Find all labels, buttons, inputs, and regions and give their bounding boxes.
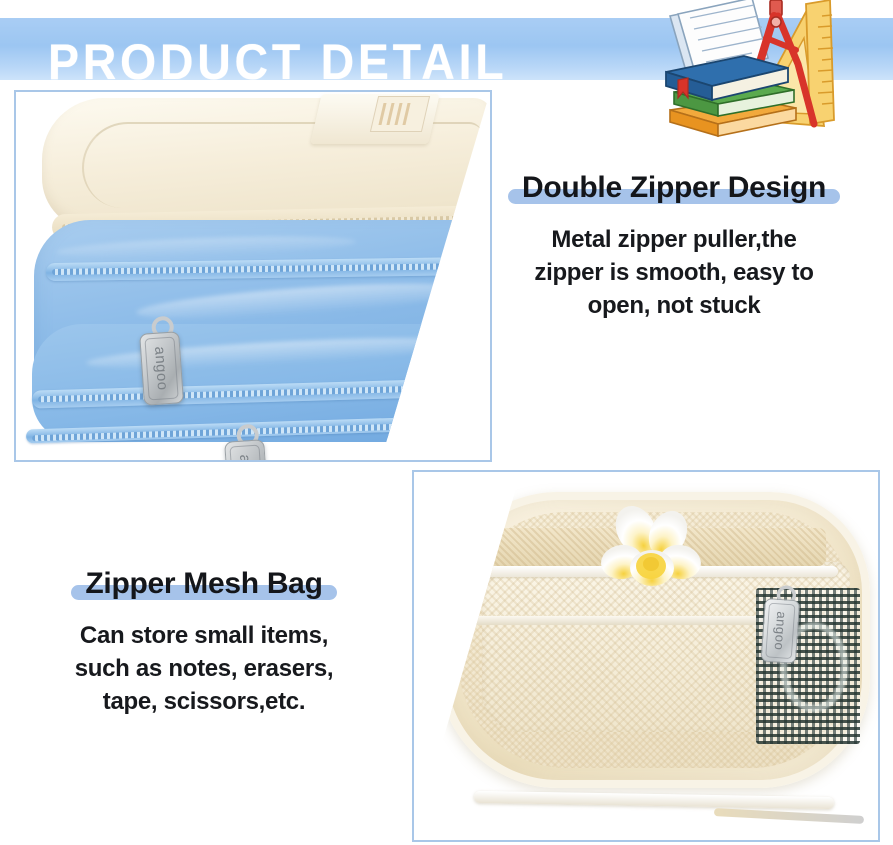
feature-block-double-zipper: Double Zipper Design Metal zipper puller…	[490, 170, 858, 322]
product-photo-open-case: angoo	[412, 470, 880, 842]
product-detail-page: PRODUCT DETAIL	[0, 0, 893, 845]
books-icon	[666, 56, 796, 136]
feature-heading: Double Zipper Design	[522, 170, 826, 206]
feature-body-line: Metal zipper puller,the	[490, 223, 858, 256]
product-photo-blue-case: angoo angoo	[14, 90, 492, 462]
feature-block-zipper-mesh-bag: Zipper Mesh Bag Can store small items, s…	[26, 566, 382, 718]
feature-body-line: zipper is smooth, easy to	[490, 256, 858, 289]
flower-decoration-icon	[592, 506, 712, 592]
puller-tab	[761, 598, 801, 664]
feature-body-line: such as notes, erasers,	[26, 652, 382, 685]
feature-body: Can store small items, such as notes, er…	[26, 619, 382, 718]
feature-body-line: Can store small items,	[26, 619, 382, 652]
school-supplies-icon	[648, 0, 893, 138]
feature-heading: Zipper Mesh Bag	[85, 566, 322, 602]
feature-body-line: open, not stuck	[490, 289, 858, 322]
puller-tab	[139, 331, 184, 406]
photo-clip: angoo	[414, 472, 878, 840]
page-title: PRODUCT DETAIL	[48, 37, 507, 87]
feature-body-line: tape, scissors,etc.	[26, 685, 382, 718]
pencil-item	[714, 808, 864, 824]
photo-clip: angoo angoo	[16, 92, 490, 460]
feature-heading-wrap: Double Zipper Design	[508, 170, 840, 206]
feature-body: Metal zipper puller,the zipper is smooth…	[490, 223, 858, 322]
feature-heading-wrap: Zipper Mesh Bag	[71, 566, 336, 602]
case-bottom-zipper	[474, 791, 834, 809]
brand-label-tag	[370, 96, 430, 132]
puller-tab	[224, 439, 269, 460]
